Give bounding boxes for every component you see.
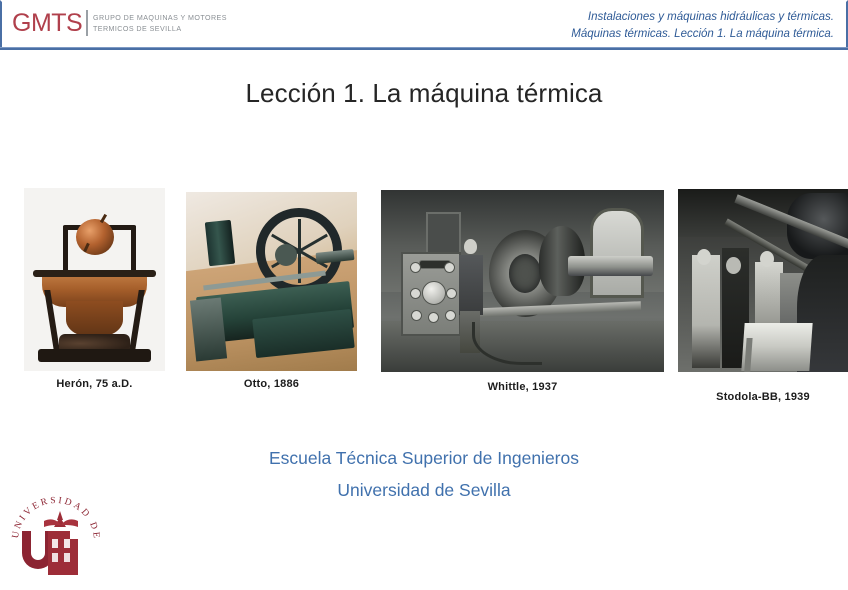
gmts-logo-subtitle: GRUPO DE MAQUINAS Y MOTORES TERMICOS DE … (93, 8, 227, 38)
gmts-logo-subtitle-line2: TERMICOS DE SEVILLA (93, 23, 227, 34)
gmts-logo-subtitle-line1: GRUPO DE MAQUINAS Y MOTORES (93, 12, 227, 23)
school-name: Escuela Técnica Superior de Ingenieros (0, 442, 848, 474)
universidad-de-sevilla-seal: UNIVERSIDAD DE SEVILLA (4, 487, 108, 585)
stodola-brown-boveri-image (678, 189, 848, 372)
university-name: Universidad de Sevilla (0, 474, 848, 506)
header-reference-line1: Instalaciones y máquinas hidráulicas y t… (571, 9, 834, 26)
header-reference-line2: Máquinas térmicas. Lección 1. La máquina… (571, 26, 834, 43)
otto-engine-image (186, 192, 357, 371)
whittle-jet-engine-test-image (381, 190, 664, 372)
figure-caption: Whittle, 1937 (381, 381, 664, 393)
page-title: Lección 1. La máquina térmica (0, 78, 848, 109)
header-reference: Instalaciones y máquinas hidráulicas y t… (571, 9, 834, 43)
figure-caption: Herón, 75 a.D. (24, 378, 165, 390)
gmts-logo-divider (86, 10, 88, 36)
school-block: Escuela Técnica Superior de Ingenieros U… (0, 442, 848, 506)
slide-header: GMTS GRUPO DE MAQUINAS Y MOTORES TERMICO… (0, 0, 848, 50)
figure-caption: Stodola-BB, 1939 (678, 391, 848, 403)
gmts-logo: GMTS GRUPO DE MAQUINAS Y MOTORES TERMICO… (12, 8, 234, 38)
figure-caption: Otto, 1886 (186, 378, 357, 390)
gmts-logo-mark: GMTS (12, 8, 86, 38)
heron-aeolipile-image (24, 188, 165, 371)
